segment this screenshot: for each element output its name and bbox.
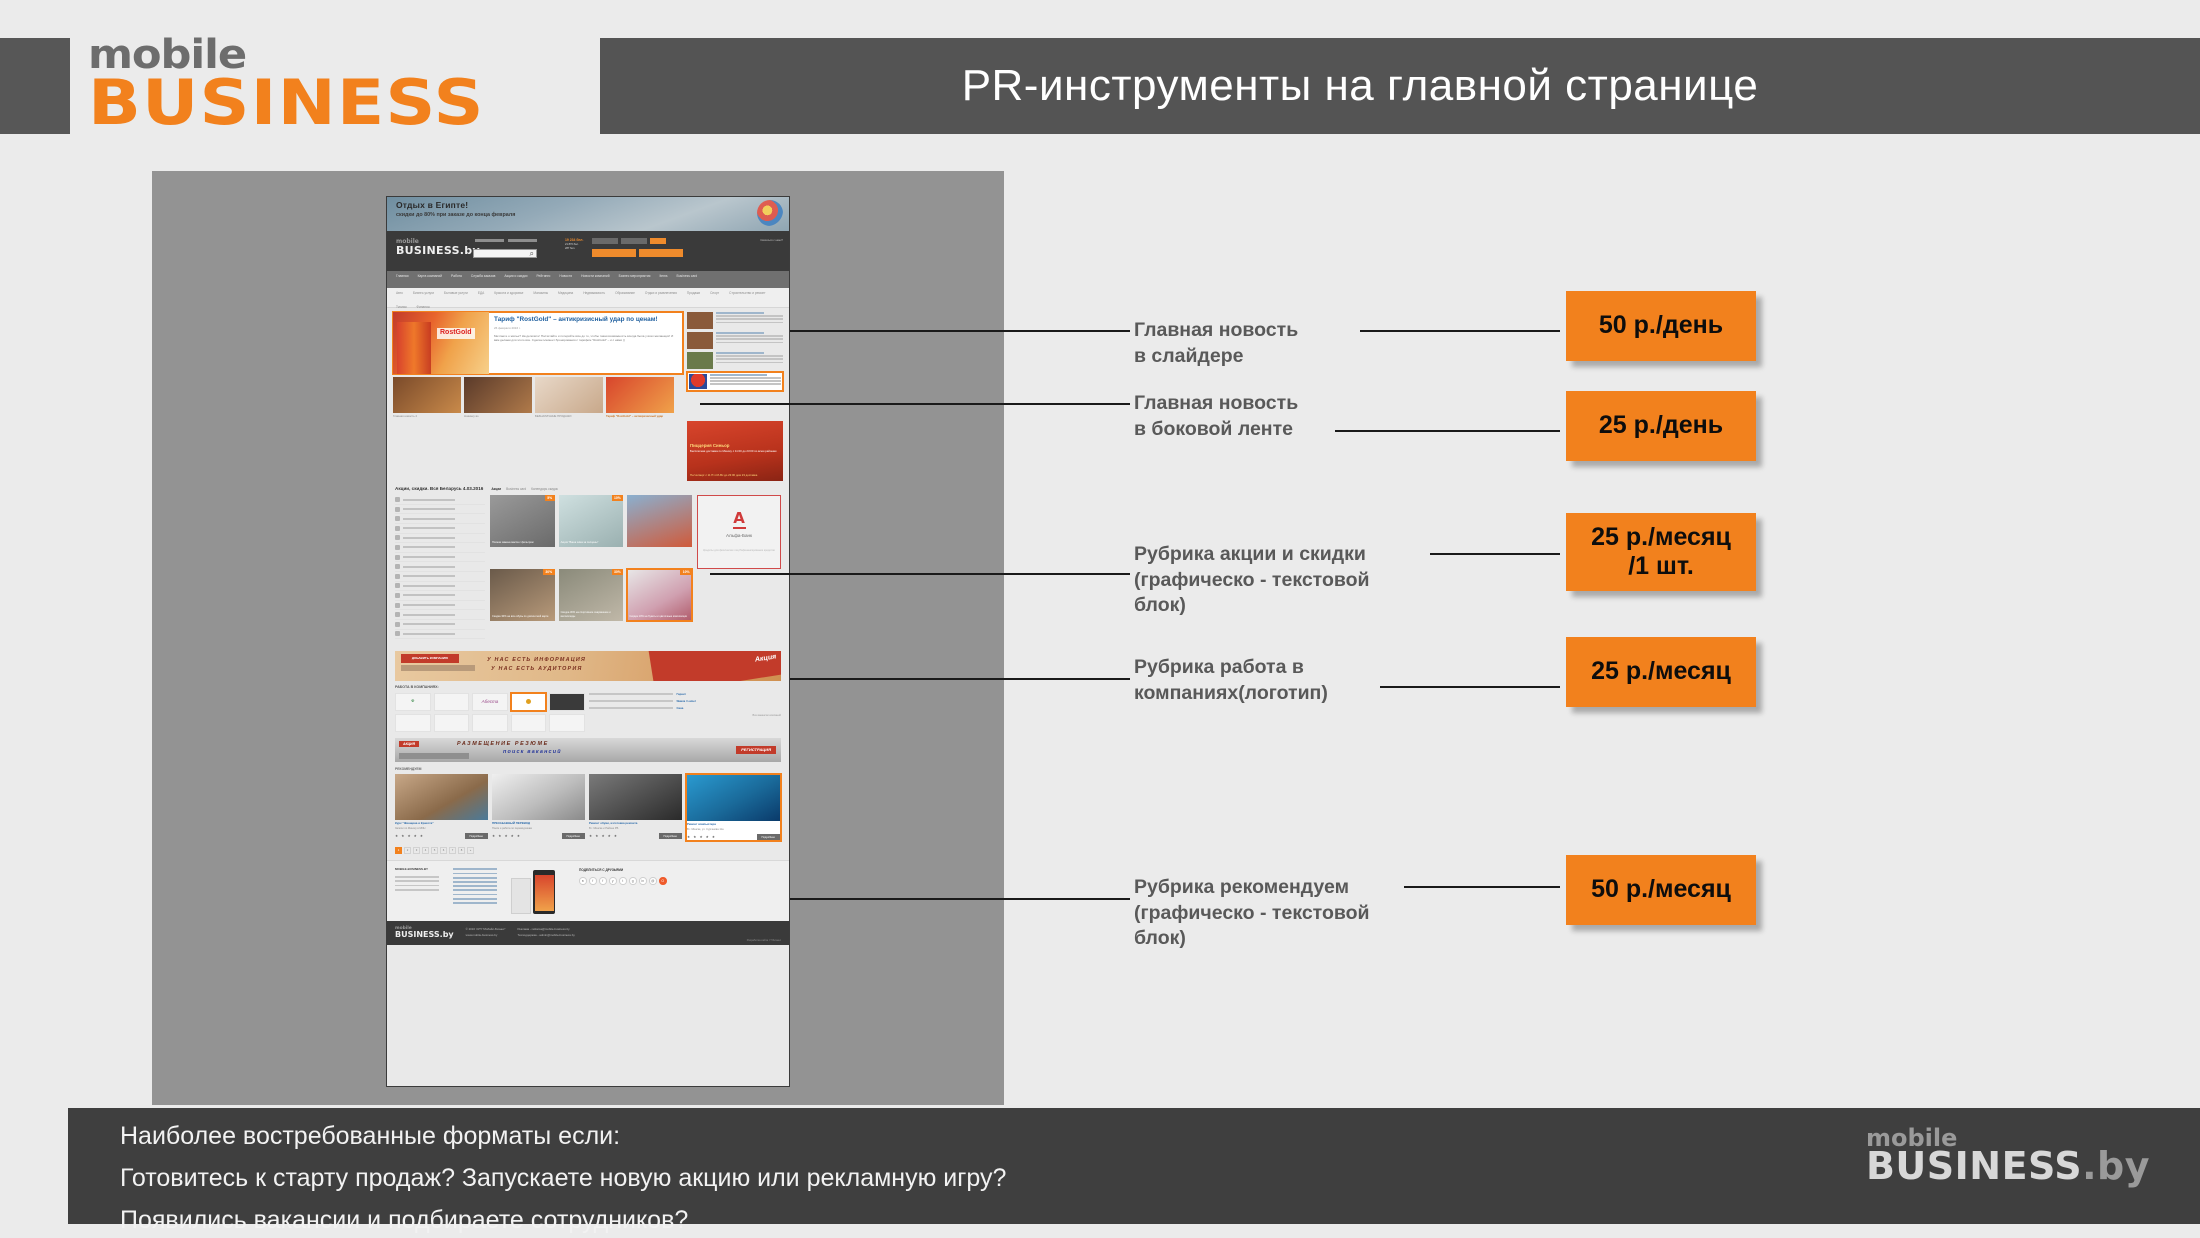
nav-item[interactable]: Items [659,274,667,278]
news-thumb [687,352,713,369]
footer-developer-credit: Разработка сайта I T Бизнес [747,939,781,942]
nav-item[interactable]: Служба заказов [471,274,496,278]
vacancy-row[interactable]: Ямаха / Lamel [589,700,781,703]
alfabank-name: Альфа-Банк [726,533,752,539]
leader-line-5b [1404,886,1560,888]
slider-thumb[interactable]: Главная новость 2 [393,377,461,418]
vacancy-label: Сана [676,707,683,710]
slider-thumbnails[interactable]: Главная новость 2 Новинку во БЕЗНАЛИЧНЫЕ… [393,377,683,418]
rabota-heading: РАБОТА В КОМПАНИЯХ: [395,685,781,689]
site-bottom-bar: mobile BUSINESS.by © 2016 ЧУП "Мобайл-Би… [387,921,789,945]
leader-line-2a [700,403,1130,405]
side-news-item[interactable] [687,312,783,329]
recommend-heading: РЕКОМЕНДУЕМ [387,762,789,774]
category-item[interactable] [395,505,485,515]
recommend-image [589,774,682,820]
pizza-ad-lines: Бесплатная доставка по Минску с 11:00 до… [690,449,776,453]
website-screenshot-mockup: Отдых в Египте! скидки до 80% при заказе… [386,196,790,1087]
subnav-item[interactable]: ЕДА [478,291,484,295]
brand-logo-business: BUSINESS [88,74,648,132]
price-box-4: 25 р./месяц [1566,637,1756,707]
akcii-card-caption: Скидка 30% на всю обувь по дисконтной ка… [492,615,553,619]
recommend-card[interactable]: ПРЕЗАБАВНЫЙ ПЕРЕВОД Поиск и работа по пе… [492,774,585,842]
site-header-tabs[interactable] [475,239,537,244]
social-icon-odnoklassniki[interactable]: O [659,877,667,885]
banner-line-1: У НАС ЕСТЬ ИНФОРМАЦИЯ [487,657,586,664]
leader-line-3a [710,573,1130,575]
footer-contacts-block: Реклама - reklama@mobile-business.by Тех… [518,927,575,938]
site-category-nav[interactable]: Авто Бизнес-услуги Бытовые услуги ЕДА Кр… [387,288,789,308]
subnav-item[interactable]: Авто [396,291,403,295]
site-logo-business: BUSINESS.by [396,245,480,256]
news-thumb [689,374,707,389]
category-item[interactable] [395,524,485,534]
footer-strip: Наиболее востребованные форматы если: Го… [68,1108,2200,1224]
alfabank-logo-letter: A [733,511,745,525]
add-company-button[interactable]: ДОБАВИТЬ КОМПАНИЮ [401,654,459,663]
akcii-card[interactable]: 10% Акция "Ваша зима за полцены" [559,495,624,547]
footer-col-title: MOBILE-BUSINESS.BY [395,868,447,872]
footer-share-block: ПОДЕЛИТЬСЯ С ДРУЗЬЯМИ в f f y t g in @ O [579,868,781,914]
site-top-ad-banner[interactable]: Отдых в Египте! скидки до 80% при заказе… [387,197,789,231]
subnav-item[interactable]: Бытовые услуги [444,291,468,295]
thumb-image [464,377,532,413]
alfabank-ad-banner[interactable]: A Альфа-Банк Кредиты для физических лиц … [697,495,781,569]
footer-column-about: MOBILE-BUSINESS.BY [395,868,447,914]
akcii-section-body: 5% Полная замена масла с фильтром 10% Ак… [387,495,789,645]
nav-item[interactable]: Главная [396,274,409,278]
akcii-card[interactable] [627,495,692,547]
price-box-2: 25 р./день [1566,391,1756,461]
register-button[interactable]: РЕГИСТРАЦИЯ [736,746,776,754]
recommend-title: Ремонт компьютера [687,823,780,827]
company-logo[interactable]: Ф [395,693,431,711]
category-item[interactable] [395,601,485,611]
resume-promo-banner[interactable]: АКЦИЯ РАЗМЕЩЕНИЕ РЕЗЮМЕ поиск вакансий Р… [395,738,781,762]
discount-badge: 5% [545,495,555,501]
category-item[interactable] [395,495,485,505]
social-icon-facebook[interactable]: f [589,877,597,885]
subnav-item[interactable]: Красота и здоровье [494,291,523,295]
header-left-accent-block [0,38,70,134]
category-item[interactable] [395,543,485,553]
company-logo[interactable] [549,714,585,732]
company-logo[interactable] [511,714,547,732]
recommend-subtitle: Поиск и работа по переводчикам [492,827,585,830]
pizza-ad-hours: Пн-Четверг с 11 Пт-Сб-Вс до 23:00 дом 23… [690,473,757,477]
recommend-button[interactable]: Подробнее [562,833,585,839]
price-box-3: 25 р./месяц /1 шт. [1566,513,1756,591]
slider-thumb[interactable]: Тариф "RostGold" – антикризисный удар [606,377,674,418]
slider-title: Тариф "RostGold" – антикризисный удар по… [494,316,678,324]
social-icon-fb2[interactable]: f [599,877,607,885]
slider-date: 26 февраля 2016 г. [494,327,678,331]
subnav-item[interactable]: Отдых и развлечения [645,291,677,295]
banner-akcia-ribbon: Акция [755,653,778,665]
mobile-app-preview [511,868,573,914]
category-item[interactable] [395,591,485,601]
akcii-card-caption: Скидка 30% на спортивное снаряжение и ве… [561,611,622,618]
akcii-card-caption: Скидка 10% на букеты и цветочные компози… [629,615,690,619]
recommend-button[interactable]: Подробнее [757,834,780,840]
header-bar: PR-инструменты на главной странице [600,38,2200,134]
recommend-button[interactable]: Подробнее [465,833,488,839]
discount-badge: 10% [612,495,624,501]
category-item[interactable] [395,582,485,592]
site-primary-nav[interactable]: Главная Карта компаний Работа Служба зак… [387,271,789,288]
nav-item[interactable]: Рейтинги [536,274,550,278]
category-item[interactable] [395,534,485,544]
recommend-card-highlighted[interactable]: Ремонт компьютера В г. Минске, ул. Сурга… [686,774,781,842]
akcii-tab[interactable]: Акции [491,487,501,491]
site-search-input[interactable] [473,249,537,258]
vacancy-list: Гарант Ямаха / Lamel Сана Все вакансии к… [589,693,781,732]
all-vacancies-link[interactable]: Все вакансии компаний [589,714,781,717]
subnav-item[interactable]: Спорт [710,291,719,295]
pizza-ad-banner[interactable]: Пиццерия Синьор Бесплатная доставка по М… [687,421,783,481]
category-item[interactable] [395,553,485,563]
recommend-image [395,774,488,820]
subnav-item[interactable]: Медицина [558,291,573,295]
akcii-card-grid: 5% Полная замена масла с фильтром 10% Ак… [490,495,692,639]
social-icon-twitter[interactable]: y [609,877,617,885]
recommend-image [687,775,780,821]
recommend-card[interactable]: Курс "Женщина и Красота" Записи по Минск… [395,774,488,842]
recommend-title: Ремонт обуви, изготовка ремонта [589,822,682,826]
news-thumb [687,312,713,329]
thumb-image [606,377,674,413]
category-item[interactable] [395,620,485,630]
akcii-tab[interactable]: Business card [506,487,526,491]
site-footer-logo: mobile BUSINESS.by [395,927,454,939]
category-item[interactable] [395,514,485,524]
social-icons[interactable]: в f f y t g in @ O [579,877,781,885]
subnav-item[interactable]: Магазины [533,291,548,295]
company-logo[interactable] [472,714,508,732]
recommend-card[interactable]: Ремонт обуви, изготовка ремонта В г. Мин… [589,774,682,842]
slider-image: RostGold [393,312,489,374]
social-icon-tumblr[interactable]: t [619,877,627,885]
akcii-title: Акции, скидки. Вся Беларусь 4.03.2016 [395,486,483,492]
recommend-subtitle: Записи по Минску в МИН [395,827,488,830]
recommend-subtitle: В г. Минске и Районе РБ [589,827,682,830]
site-footer: MOBILE-BUSINESS.BY ПОДЕЛИТЬСЯ С ДРУЗЬЯМИ… [387,860,789,921]
leader-line-3b [1430,553,1560,555]
pizza-ad-row: Пиццерия Синьор Бесплатная доставка по М… [387,418,789,481]
callout-label-1: Главная новость в слайдере [1134,318,1434,369]
social-icon-mail[interactable]: @ [649,877,657,885]
leader-line-4a [790,678,1130,680]
page-button[interactable]: » [467,847,474,854]
slider-body: Мечтаете о жилье? На депозите! Посчитайт… [494,334,678,343]
rating-stars: ★ ★ ★ ★ ★ [395,834,424,838]
subnav-item[interactable]: Недвижимость [583,291,605,295]
company-logo-highlighted[interactable] [511,693,547,711]
social-icon-linkedin[interactable]: in [639,877,647,885]
subnav-item[interactable]: Бизнес-услуги [413,291,434,295]
leader-line-4b [1380,686,1560,688]
page-button[interactable]: 5 [431,847,438,854]
category-item[interactable] [395,572,485,582]
side-news-item-highlighted[interactable] [687,372,783,391]
slider-text: Тариф "RostGold" – антикризисный удар по… [489,312,683,374]
footer-brand-logo: mobile BUSINESS.by [1866,1128,2150,1183]
brand-logo: mobile BUSINESS [88,36,588,136]
vacancy-label: Ямаха / Lamel [676,700,695,703]
footer-line-3: Появились вакансии и подбираете сотрудни… [68,1191,2200,1233]
slider-region: RostGold Тариф "RostGold" – антикризисны… [387,308,789,418]
company-logo[interactable] [395,714,431,732]
akcii-card[interactable]: 30% Скидка 30% на спортивное снаряжение … [559,569,624,621]
pagination[interactable]: 1 2 3 4 5 6 7 8 » [387,847,789,860]
nav-item[interactable]: Новости [559,274,572,278]
nav-item[interactable]: Business card [677,274,698,278]
site-header-contact-link[interactable]: Связаться с нами? [760,239,783,242]
resume-banner-line-1: РАЗМЕЩЕНИЕ РЕЗЮМЕ [457,741,549,748]
akcii-section-header: Акции, скидки. Вся Беларусь 4.03.2016 Ак… [387,481,789,495]
rating-stars: ★ ★ ★ ★ ★ [687,835,716,839]
recommend-subtitle: В г. Минске, ул. Сурганова 11а [687,828,780,831]
pizza-ad-title: Пиццерия Синьор [690,443,729,449]
discount-badge: 10% [680,569,692,575]
discount-badge: 30% [612,569,624,575]
share-title: ПОДЕЛИТЬСЯ С ДРУЗЬЯМИ [579,868,781,872]
akcii-sidebar-ad: A Альфа-Банк Кредиты для физических лиц … [697,495,781,639]
footer-logo-business: BUSINESS.by [395,931,454,939]
resume-banner-decor [399,753,469,759]
thumb-image [535,377,603,413]
leader-line-5a [790,898,1130,900]
site-logo[interactable]: mobile BUSINESS.by [396,239,480,256]
leader-line-1a [790,330,1130,332]
company-logo[interactable]: Абеста [472,693,508,711]
slider-badge: RostGold [437,328,475,339]
callout-label-4: Рубрика работа в компаниях(логотип) [1134,655,1444,706]
leader-line-2b [1335,430,1560,432]
page-button[interactable]: 1 [395,847,402,854]
akcii-card[interactable]: 30% Скидка 30% на всю обувь по дисконтно… [490,569,555,621]
page-title: PR-инструменты на главной странице [600,38,2120,134]
akcii-card-caption: Акция "Ваша зима за полцены" [561,541,622,545]
resume-banner-line-2: поиск вакансий [503,749,562,756]
site-header-cta-buttons[interactable] [592,249,683,257]
recommend-title: ПРЕЗАБАВНЫЙ ПЕРЕВОД [492,822,585,826]
callout-label-2: Главная новость в боковой ленте [1134,391,1434,442]
category-sidebar[interactable] [395,495,485,639]
vacancy-label: Гарант [676,693,685,696]
category-item[interactable] [395,562,485,572]
vacancy-row[interactable]: Гарант [589,693,781,696]
akcii-card-caption: Полная замена масла с фильтром [492,541,553,545]
rabota-section: РАБОТА В КОМПАНИЯХ: Ф Абеста Гарант [387,681,789,737]
company-logo-grid: Ф Абеста [395,693,585,732]
recommend-image [492,774,585,820]
alfabank-footnote: Кредиты для физических лиц Рефинансирова… [703,549,775,553]
top-ad-subtitle: скидки до 80% при заказе до конца феврал… [396,212,515,219]
vacancy-row[interactable]: Сана [589,707,781,710]
footer-column-links[interactable] [453,868,505,914]
page-button[interactable]: 2 [404,847,411,854]
leader-line-1b [1360,330,1560,332]
discount-badge: 30% [543,569,555,575]
subnav-item[interactable]: Продажи [687,291,700,295]
side-news-item[interactable] [687,352,783,369]
akcii-tabs[interactable]: Акции Business card Календарь скидок [491,487,558,491]
alfabank-logo-underline [733,527,746,529]
site-header-buttons[interactable] [592,238,666,244]
subnav-item[interactable]: Образование [615,291,635,295]
nav-item[interactable]: Работа [451,274,462,278]
recommend-grid: Курс "Женщина и Красота" Записи по Минск… [387,774,789,848]
akcii-card[interactable]: 5% Полная замена масла с фильтром [490,495,555,547]
akcii-tab[interactable]: Календарь скидок [531,487,558,491]
company-logo[interactable] [434,714,470,732]
nav-item[interactable]: Новости компаний [581,274,609,278]
site-header: mobile BUSINESS.by 19 234 бел. 21 870 бе… [387,231,789,271]
category-item[interactable] [395,610,485,620]
resume-akcia-badge: АКЦИЯ [399,741,419,747]
banner-decor-bar [401,665,475,671]
news-thumb [687,332,713,349]
footer-tech-email[interactable]: Техподдержка - admin@mobile-business.by [518,933,575,939]
rabota-promo-banner[interactable]: ДОБАВИТЬ КОМПАНИЮ У НАС ЕСТЬ ИНФОРМАЦИЯ … [395,651,781,681]
slider-thumb[interactable]: БЕЗНАЛИЧНЫЕ ПРОДАЖИ [535,377,603,418]
footer-brand-business: BUSINESS.by [1866,1149,2150,1183]
nav-item[interactable]: Бизнес мероприятия [619,274,651,278]
top-ad-title: Отдых в Египте! [396,200,468,211]
slide-root: mobile BUSINESS PR-инструменты на главно… [0,0,2200,1238]
company-logo[interactable] [434,693,470,711]
price-box-5: 50 р./месяц [1566,855,1756,925]
nav-item[interactable]: Акции и скидки [504,274,527,278]
page-button[interactable]: 4 [422,847,429,854]
rating-stars: ★ ★ ★ ★ ★ [589,834,618,838]
main-news-slider-highlighted[interactable]: RostGold Тариф "RostGold" – антикризисны… [393,312,683,374]
nav-item[interactable]: Карта компаний [418,274,442,278]
page-button[interactable]: 3 [413,847,420,854]
social-icon-vk[interactable]: в [579,877,587,885]
footer-site-url[interactable]: www.mobile-business.by [466,933,506,939]
page-button[interactable]: 6 [440,847,447,854]
side-news-feed[interactable] [687,312,783,369]
social-icon-google[interactable]: g [629,877,637,885]
price-box-1: 50 р./день [1566,291,1756,361]
side-news-item[interactable] [687,332,783,349]
subnav-item[interactable]: Строительство и ремонт [729,291,765,295]
banner-line-2: У НАС ЕСТЬ АУДИТОРИЯ [491,666,583,673]
callout-label-3: Рубрика акции и скидки (графическо - тек… [1134,542,1464,619]
category-item[interactable] [395,630,485,640]
recommend-button[interactable]: Подробнее [659,833,682,839]
page-button[interactable]: 8 [458,847,465,854]
thumb-image [393,377,461,413]
akcii-card-highlighted[interactable]: 10% Скидка 10% на букеты и цветочные ком… [627,569,692,621]
recommend-title: Курс "Женщина и Красота" [395,822,488,826]
footer-copyright-block: © 2016 ЧУП "Мобайл-Бизнес" www.mobile-bu… [466,927,506,938]
page-button[interactable]: 7 [449,847,456,854]
company-logo[interactable] [549,693,585,711]
slider-thumb[interactable]: Новинку во [464,377,532,418]
rating-stars: ★ ★ ★ ★ ★ [492,834,521,838]
